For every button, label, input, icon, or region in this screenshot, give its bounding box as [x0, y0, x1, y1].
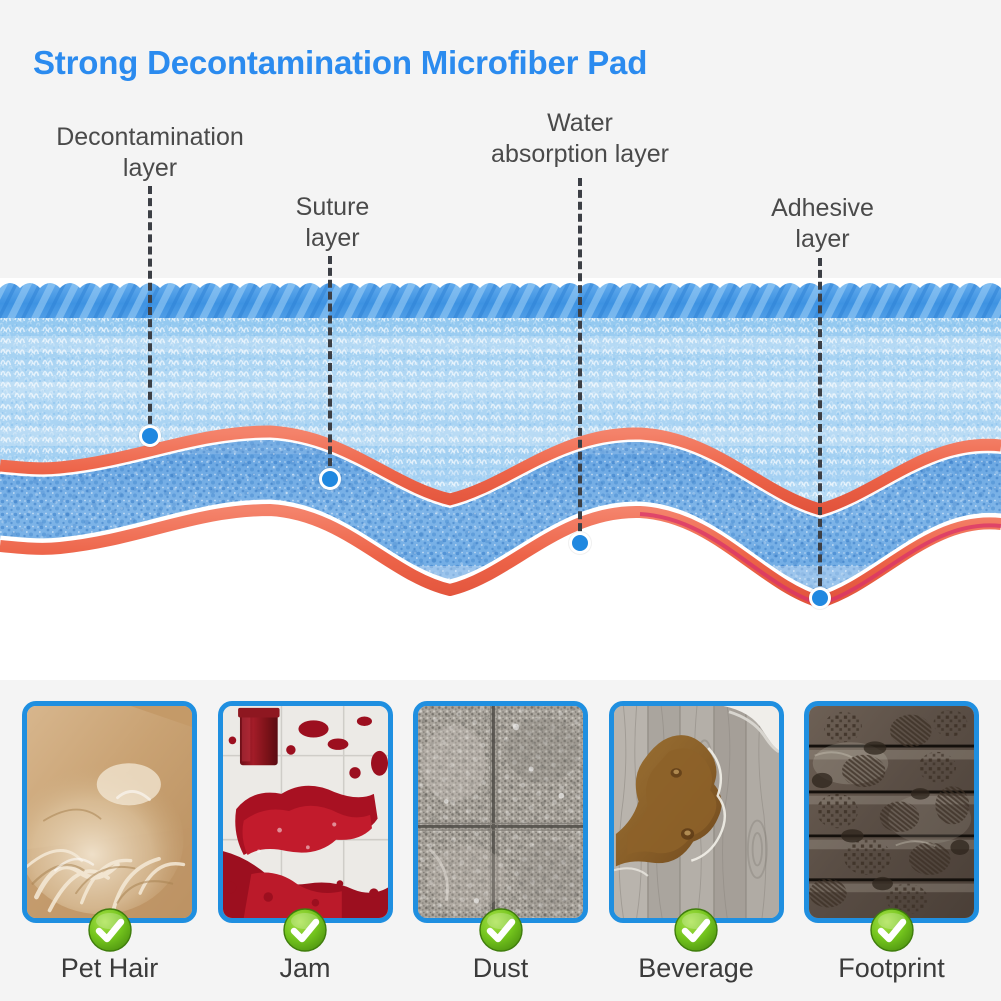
- use-case-tile-footprint: Footprint: [804, 701, 979, 1001]
- page-title: Strong Decontamination Microfiber Pad: [33, 44, 647, 82]
- thumbnail-frame-footprint: [804, 701, 979, 923]
- marker-dot-decontamination: [139, 425, 161, 447]
- layer-diagram-section: Strong Decontamination Microfiber Pad: [0, 0, 1001, 638]
- thumbnail-frame-beverage: [609, 701, 784, 923]
- check-icon: [282, 907, 328, 953]
- use-case-tile-row: Pet Hair: [0, 701, 1001, 1001]
- use-case-label-dust: Dust: [413, 953, 588, 984]
- use-case-label-pet-hair: Pet Hair: [22, 953, 197, 984]
- callout-label-suture: Suture layer: [240, 192, 425, 255]
- use-case-label-jam: Jam: [218, 953, 393, 984]
- use-case-tile-dust: Dust: [413, 701, 588, 1001]
- marker-dot-water-absorption: [569, 532, 591, 554]
- callout-label-decontamination: Decontamination layer: [35, 122, 265, 185]
- product-infographic: Strong Decontamination Microfiber Pad: [0, 0, 1001, 1001]
- use-case-tile-beverage: Beverage: [609, 701, 784, 1001]
- check-icon: [87, 907, 133, 953]
- leader-line-suture: [328, 256, 332, 478]
- pet-hair-photo: [27, 706, 192, 918]
- use-case-tile-jam: Jam: [218, 701, 393, 1001]
- callout-label-water-absorption: Water absorption layer: [455, 108, 705, 171]
- use-cases-section: Pet Hair: [0, 680, 1001, 1001]
- check-icon: [869, 907, 915, 953]
- marker-dot-suture: [319, 468, 341, 490]
- thumbnail-frame-pet-hair: [22, 701, 197, 923]
- dust-photo: [418, 706, 583, 918]
- marker-dot-adhesive: [809, 587, 831, 609]
- leader-line-water-absorption: [578, 178, 582, 543]
- thumbnail-frame-dust: [413, 701, 588, 923]
- use-case-label-beverage: Beverage: [609, 953, 784, 984]
- beverage-photo: [614, 706, 779, 918]
- use-case-tile-pet-hair: Pet Hair: [22, 701, 197, 1001]
- use-case-label-footprint: Footprint: [804, 953, 979, 984]
- leader-line-decontamination: [148, 186, 152, 436]
- leader-line-adhesive: [818, 258, 822, 598]
- callout-label-adhesive: Adhesive layer: [735, 193, 910, 256]
- check-icon: [673, 907, 719, 953]
- check-icon: [478, 907, 524, 953]
- jam-photo: [223, 706, 388, 918]
- footprint-photo: [809, 706, 974, 918]
- thumbnail-frame-jam: [218, 701, 393, 923]
- section-divider: [0, 638, 1001, 680]
